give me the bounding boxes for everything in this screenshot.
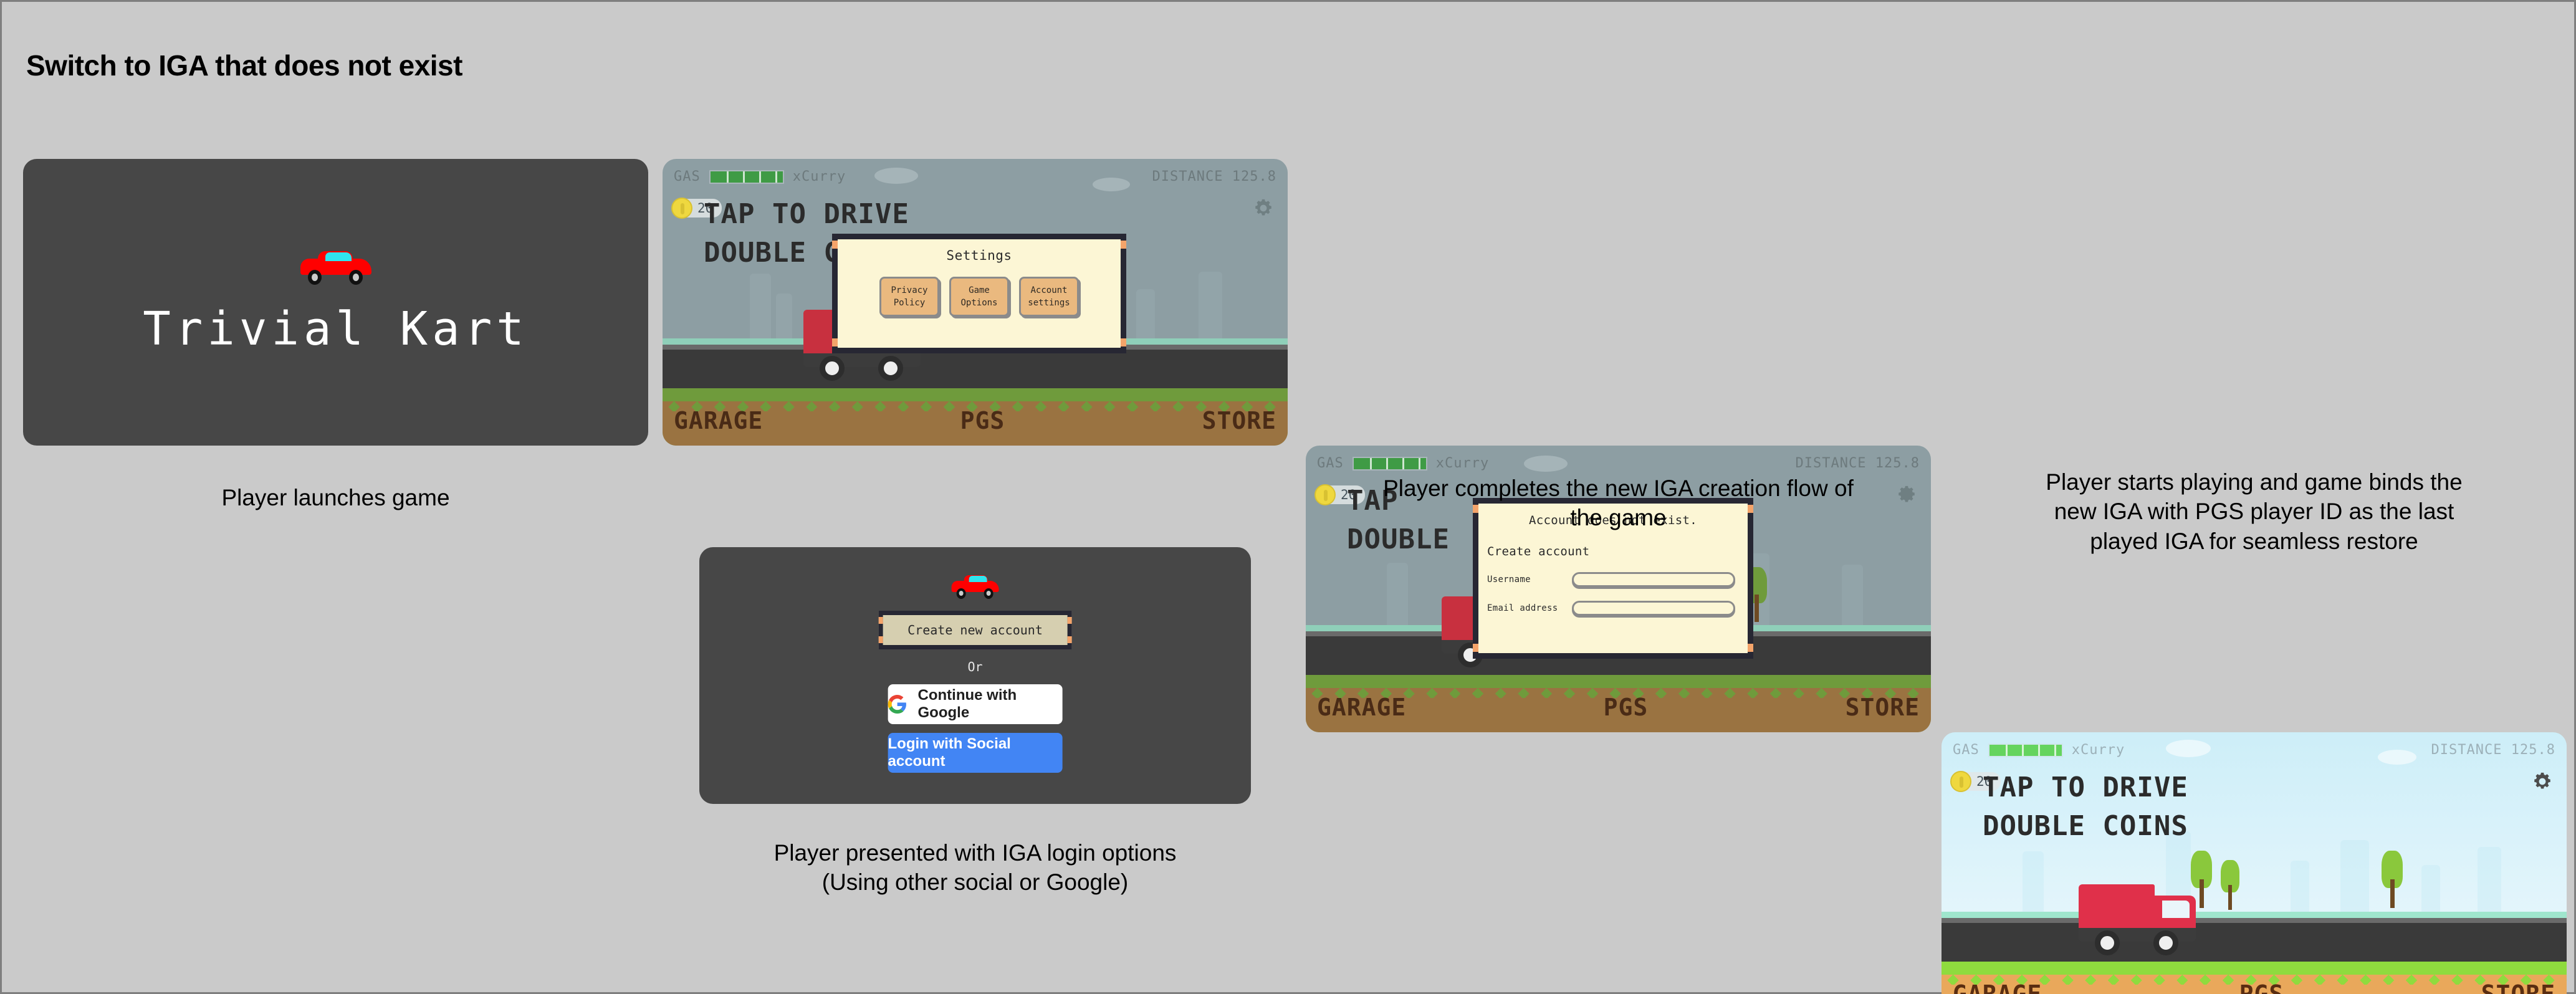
nav-store[interactable]: STORE [1846, 694, 1920, 721]
distance-readout: DISTANCE 125.8 [2431, 742, 2555, 758]
login-with-social-button[interactable]: Login with Social account [888, 733, 1063, 773]
bottom-nav: GARAGE PGS STORE [1942, 980, 2567, 994]
button-corner-br [1068, 636, 1072, 643]
account-settings-button[interactable]: Account settings [1019, 277, 1079, 317]
panel-login-options: Create new account Or Continue with Goog… [699, 547, 1251, 804]
gas-label: GAS [1317, 456, 1344, 471]
headline-tap-to-drive: TAP TO DRIVE DOUBLE COINS [1983, 768, 2188, 846]
gas-meter [709, 170, 784, 184]
continue-with-google-label: Continue with Google [918, 687, 1063, 722]
gas-label: GAS [1953, 742, 1980, 758]
page-title: Switch to IGA that does not exist [26, 49, 462, 82]
gas-label: GAS [674, 169, 701, 184]
or-divider-text: Or [967, 659, 982, 674]
create-new-account-label: Create new account [907, 623, 1043, 638]
nav-garage[interactable]: GARAGE [1953, 980, 2042, 994]
road [1942, 918, 2567, 968]
dialog-corner-bl [832, 338, 838, 346]
caption-login: Player presented with IGA login options … [699, 838, 1251, 897]
panel-playing-screen: GAS xCurry DISTANCE 125.8 20 TAP TO DRIV… [1942, 732, 2567, 994]
email-label: Email address [1487, 603, 1562, 613]
headline-line1: TAP TO DRIVE [1983, 772, 2188, 803]
username-input[interactable] [1572, 572, 1735, 587]
nav-garage[interactable]: GARAGE [1317, 694, 1406, 721]
grass-horizon [1942, 912, 2567, 918]
tree [2221, 860, 2239, 912]
settings-dialog-title: Settings [838, 248, 1121, 263]
create-new-account-button[interactable]: Create new account [878, 611, 1072, 649]
panel-settings-screen: GAS xCurry DISTANCE 125.8 20 TAP TO DRIV… [663, 159, 1288, 446]
settings-dialog-buttons: Privacy Policy Game Options Account sett… [838, 277, 1121, 317]
button-corner-tl [878, 617, 883, 624]
slide-canvas: Switch to IGA that does not exist Trivia… [0, 0, 2576, 994]
gear-icon[interactable] [1253, 198, 1274, 219]
create-account-subheading: Create account [1487, 545, 1748, 558]
button-corner-bl [878, 636, 883, 643]
player-username: xCurry [1436, 456, 1489, 471]
distance-readout: DISTANCE 125.8 [1152, 169, 1276, 184]
coin-icon [1314, 484, 1336, 505]
nav-garage[interactable]: GARAGE [674, 407, 763, 434]
player-username: xCurry [2072, 742, 2125, 758]
caption-splash: Player launches game [23, 483, 648, 512]
game-options-button[interactable]: Game Options [949, 277, 1009, 317]
kart-logo-car-icon [944, 573, 1007, 600]
email-input[interactable] [1572, 601, 1735, 616]
button-corner-tr [1068, 617, 1072, 624]
nav-store[interactable]: STORE [2481, 980, 2555, 994]
headline-line2: DOUBLE COINS [1983, 807, 2188, 846]
gear-icon[interactable] [2532, 771, 2553, 792]
dialog-corner-bl [1473, 644, 1478, 652]
game-title-text: Trivial Kart [143, 302, 529, 356]
tree [2382, 851, 2403, 910]
dialog-corner-br [1121, 338, 1126, 346]
settings-dialog: Settings Privacy Policy Game Options Acc… [832, 234, 1126, 353]
bottom-nav: GARAGE PGS STORE [663, 407, 1288, 434]
nav-pgs[interactable]: PGS [1604, 694, 1649, 721]
dialog-corner-br [1748, 644, 1753, 652]
caption-account-missing: Player completes the new IGA creation fl… [1306, 474, 1931, 533]
google-logo-icon [888, 695, 907, 714]
login-with-social-label: Login with Social account [888, 735, 1063, 770]
coin-icon [1950, 771, 1971, 792]
splash-content: Trivial Kart [23, 159, 648, 446]
privacy-policy-button[interactable]: Privacy Policy [879, 277, 939, 317]
player-username: xCurry [793, 169, 846, 184]
bottom-nav: GARAGE PGS STORE [1306, 694, 1931, 721]
hud-top-row: GAS xCurry DISTANCE 125.8 [674, 169, 1276, 184]
continue-with-google-button[interactable]: Continue with Google [888, 684, 1063, 724]
panel-splash-screen: Trivial Kart [23, 159, 648, 446]
gas-meter [1353, 457, 1427, 471]
dialog-corner-tl [832, 241, 838, 249]
hud-top-row: GAS xCurry DISTANCE 125.8 [1953, 742, 2555, 758]
email-field-row: Email address [1487, 601, 1748, 616]
nav-pgs[interactable]: PGS [2239, 980, 2284, 994]
username-label: Username [1487, 575, 1562, 585]
username-field-row: Username [1487, 572, 1748, 587]
nav-store[interactable]: STORE [1202, 407, 1276, 434]
caption-playing: Player starts playing and game binds the… [1942, 467, 2567, 556]
headline-line1: TAP TO DRIVE [704, 198, 909, 230]
kart-logo-car-icon [289, 249, 383, 286]
coin-icon [671, 198, 692, 219]
dialog-corner-tr [1121, 241, 1126, 249]
player-truck [2074, 882, 2211, 952]
distance-readout: DISTANCE 125.8 [1796, 456, 1920, 471]
gas-meter [1988, 743, 2063, 757]
nav-pgs[interactable]: PGS [960, 407, 1005, 434]
login-stack: Create new account Or Continue with Goog… [878, 573, 1072, 773]
hud-top-row: GAS xCurry DISTANCE 125.8 [1317, 456, 1920, 471]
